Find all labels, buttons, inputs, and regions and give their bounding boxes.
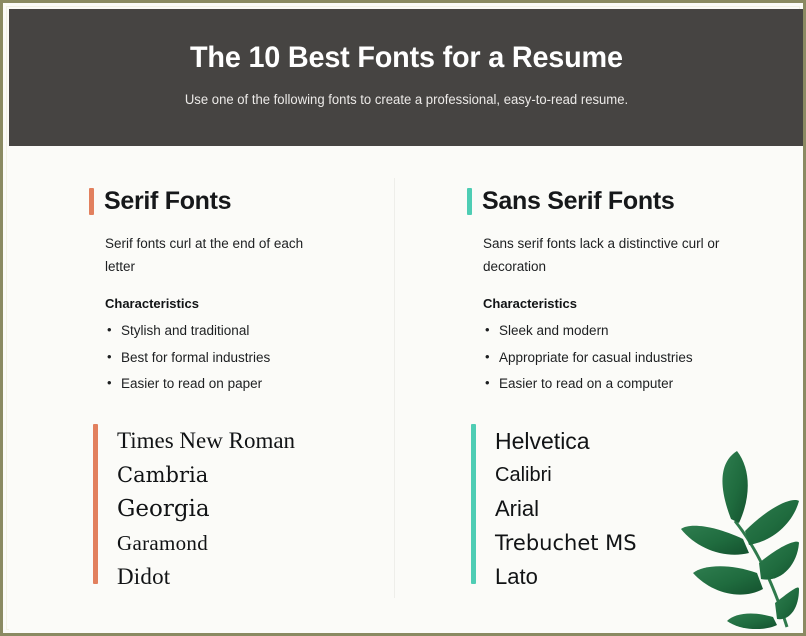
serif-font-list: Times New Roman Cambria Georgia Garamond… (117, 424, 295, 594)
list-item: Best for formal industries (105, 351, 419, 365)
list-item: Times New Roman (117, 424, 295, 458)
sans-font-samples: Helvetica Calibri Arial Trebuchet MS Lat… (471, 424, 637, 594)
sans-heading-row: Sans Serif Fonts (467, 188, 797, 215)
list-item: Trebuchet MS (495, 526, 637, 560)
serif-characteristics-list: Stylish and traditional Best for formal … (105, 324, 419, 391)
list-item: Stylish and traditional (105, 324, 419, 338)
sans-list-accent-bar-icon (471, 424, 476, 584)
content-area: Serif Fonts Serif fonts curl at the end … (9, 146, 803, 633)
list-item: Sleek and modern (483, 324, 797, 338)
serif-heading: Serif Fonts (104, 189, 231, 214)
page-subtitle: Use one of the following fonts to create… (184, 92, 627, 107)
infographic-canvas: The 10 Best Fonts for a Resume Use one o… (0, 0, 806, 636)
list-item: Arial (495, 492, 637, 526)
list-item: Garamond (117, 526, 295, 560)
column-serif: Serif Fonts Serif fonts curl at the end … (89, 146, 419, 404)
list-item: Didot (117, 560, 295, 594)
list-item: Georgia (117, 492, 295, 526)
header-banner: The 10 Best Fonts for a Resume Use one o… (9, 9, 803, 146)
sans-font-list: Helvetica Calibri Arial Trebuchet MS Lat… (495, 424, 637, 594)
list-item: Calibri (495, 458, 637, 492)
list-item: Easier to read on a computer (483, 377, 797, 391)
serif-list-accent-bar-icon (93, 424, 98, 584)
list-item: Helvetica (495, 424, 637, 458)
list-item: Cambria (117, 458, 295, 492)
serif-heading-row: Serif Fonts (89, 188, 419, 215)
sans-characteristics-list: Sleek and modern Appropriate for casual … (483, 324, 797, 391)
sans-heading: Sans Serif Fonts (482, 189, 674, 214)
sans-intro-text: Sans serif fonts lack a distinctive curl… (483, 232, 733, 278)
serif-intro-text: Serif fonts curl at the end of each lett… (105, 232, 335, 278)
serif-accent-bar-icon (89, 188, 94, 215)
column-sans-serif: Sans Serif Fonts Sans serif fonts lack a… (467, 146, 797, 404)
sans-characteristics-label: Characteristics (483, 296, 797, 311)
serif-characteristics-label: Characteristics (105, 296, 419, 311)
list-item: Appropriate for casual industries (483, 351, 797, 365)
page-title: The 10 Best Fonts for a Resume (190, 41, 623, 76)
serif-font-samples: Times New Roman Cambria Georgia Garamond… (93, 424, 295, 594)
list-item: Lato (495, 560, 637, 594)
list-item: Easier to read on paper (105, 377, 419, 391)
sans-accent-bar-icon (467, 188, 472, 215)
leaf-frond-icon (659, 439, 799, 629)
